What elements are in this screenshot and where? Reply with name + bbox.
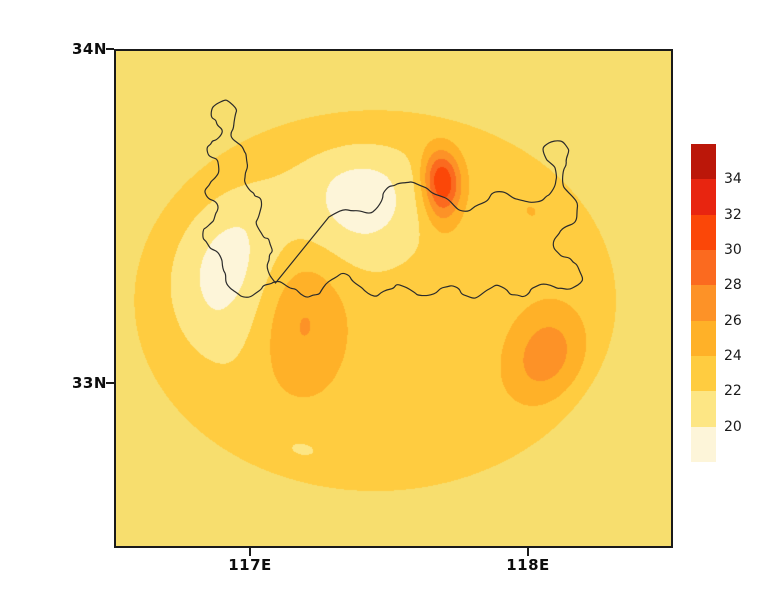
colorbar-band-0 [691,144,716,179]
colorbar-band-2 [691,215,716,250]
administrative-boundary-layer [116,51,671,546]
colorbar-band-7 [691,391,716,426]
x-axis-tick-label-118e: 118E [500,556,556,574]
contour-map-figure: 34N 33N 117E 118E 3432302826242220 [0,0,777,600]
colorbar-tick-label-34: 34 [724,171,742,187]
colorbar-tick-label-30: 30 [724,242,742,258]
x-axis-tick-mark-117e [249,548,251,556]
x-axis-tick-label-117e: 117E [222,556,278,574]
colorbar-band-3 [691,250,716,285]
colorbar-tick-label-32: 32 [724,207,742,223]
colorbar-tick-label-22: 22 [724,383,742,399]
colorbar-band-6 [691,356,716,391]
colorbar-band-5 [691,321,716,356]
administrative-boundary-path [203,100,583,298]
y-axis-tick-label-33n: 33N [72,374,106,392]
y-axis-tick-mark-34n [106,48,114,50]
colorbar-tick-label-26: 26 [724,313,742,329]
y-axis-tick-label-34n: 34N [72,40,106,58]
colorbar-tick-label-24: 24 [724,348,742,364]
colorbar [691,144,716,462]
x-axis-tick-mark-118e [527,548,529,556]
colorbar-tick-label-28: 28 [724,277,742,293]
colorbar-band-4 [691,285,716,320]
colorbar-band-8 [691,427,716,462]
colorbar-tick-label-20: 20 [724,419,742,435]
plot-area [114,49,673,548]
colorbar-band-1 [691,179,716,214]
y-axis-tick-mark-33n [106,382,114,384]
